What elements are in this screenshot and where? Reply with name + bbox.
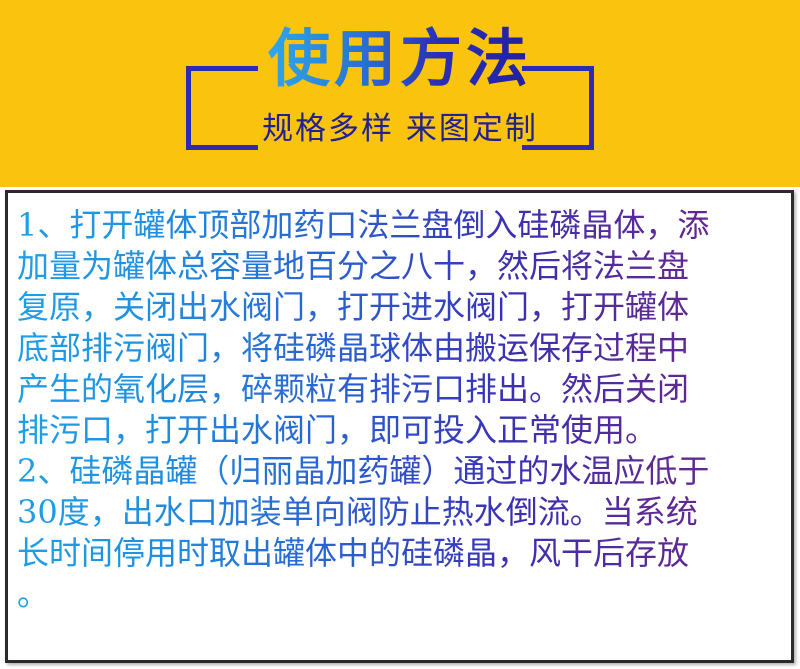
- instructions-text-block: 1、打开罐体顶部加药口法兰盘倒入硅磷晶体，添 加量为罐体总容量地百分之八十，然后…: [17, 205, 787, 615]
- instruction-line: 1、打开罐体顶部加药口法兰盘倒入硅磷晶体，添: [17, 205, 787, 246]
- promo-page: 使用方法 规格多样 来图定制 1、打开罐体顶部加药口法兰盘倒入硅磷晶体，添 加量…: [0, 0, 800, 669]
- banner-title-group: 使用方法 规格多样 来图定制: [0, 0, 800, 187]
- instruction-line: 长时间停用时取出罐体中的硅磷晶，风干后存放: [17, 533, 787, 574]
- instruction-line: 2、硅磷晶罐（归丽晶加药罐）通过的水温应低于: [17, 451, 787, 492]
- instruction-line: 。: [17, 574, 787, 615]
- page-subtitle: 规格多样 来图定制: [262, 103, 538, 148]
- instruction-line: 加量为罐体总容量地百分之八十，然后将法兰盘: [17, 246, 787, 287]
- instruction-line: 产生的氧化层，碎颗粒有排污口排出。然后关闭: [17, 369, 787, 410]
- page-title: 使用方法: [268, 26, 532, 91]
- header-banner: 使用方法 规格多样 来图定制: [0, 0, 800, 187]
- instruction-line: 底部排污阀门，将硅磷晶球体由搬运保存过程中: [17, 328, 787, 369]
- instruction-line: 30度，出水口加装单向阀防止热水倒流。当系统: [17, 492, 787, 533]
- instruction-line: 复原，关闭出水阀门，打开进水阀门，打开罐体: [17, 287, 787, 328]
- instructions-panel: 1、打开罐体顶部加药口法兰盘倒入硅磷晶体，添 加量为罐体总容量地百分之八十，然后…: [5, 190, 794, 663]
- instruction-line: 排污口，打开出水阀门，即可投入正常使用。: [17, 410, 787, 451]
